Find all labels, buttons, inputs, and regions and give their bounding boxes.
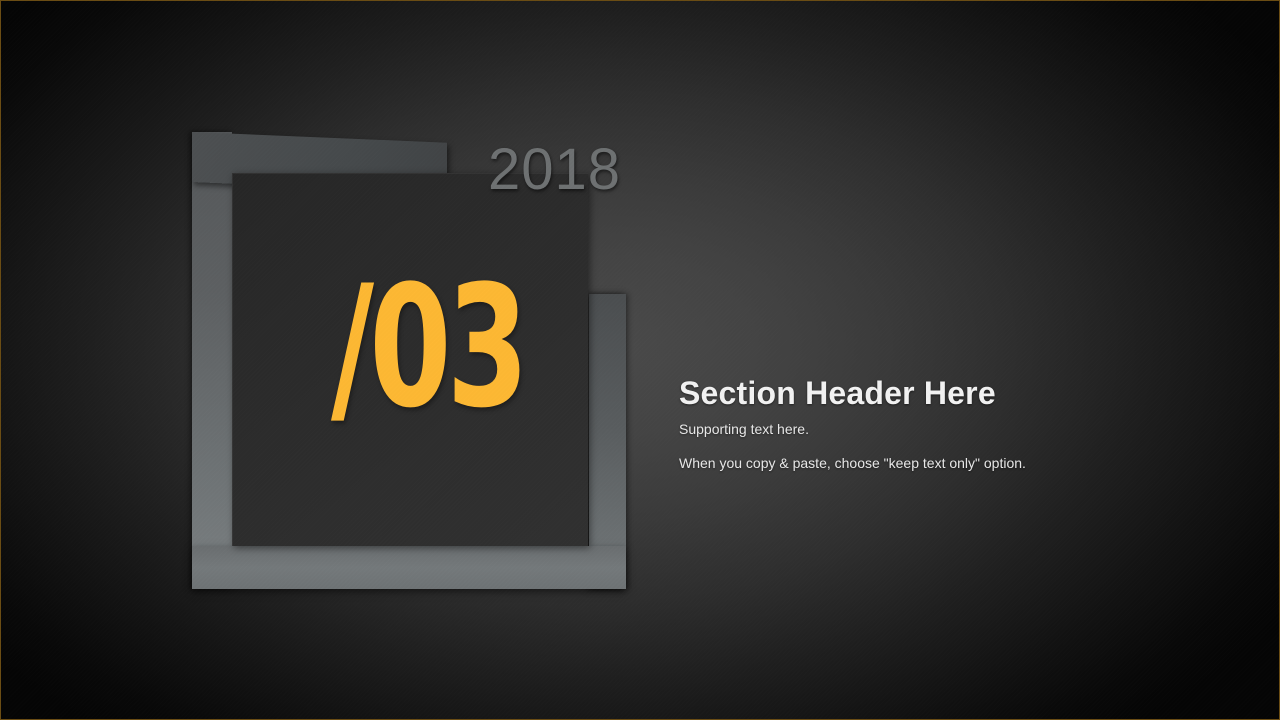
section-subtitle: Supporting text here. <box>679 420 1149 438</box>
section-note: When you copy & paste, choose "keep text… <box>679 454 1149 472</box>
outer-frame-right-bar <box>589 294 626 589</box>
year-label: 2018 <box>488 141 621 199</box>
section-number-label: /03 <box>331 263 479 431</box>
outer-frame-bottom-bar <box>192 546 626 589</box>
slide-canvas: 2018 /03 Section Header Here Supporting … <box>0 0 1280 720</box>
section-number-graphic: 2018 /03 <box>1 1 1280 720</box>
outer-frame-left-bar <box>192 132 232 589</box>
section-text-block: Section Header Here Supporting text here… <box>679 375 1149 472</box>
section-title: Section Header Here <box>679 375 1149 412</box>
